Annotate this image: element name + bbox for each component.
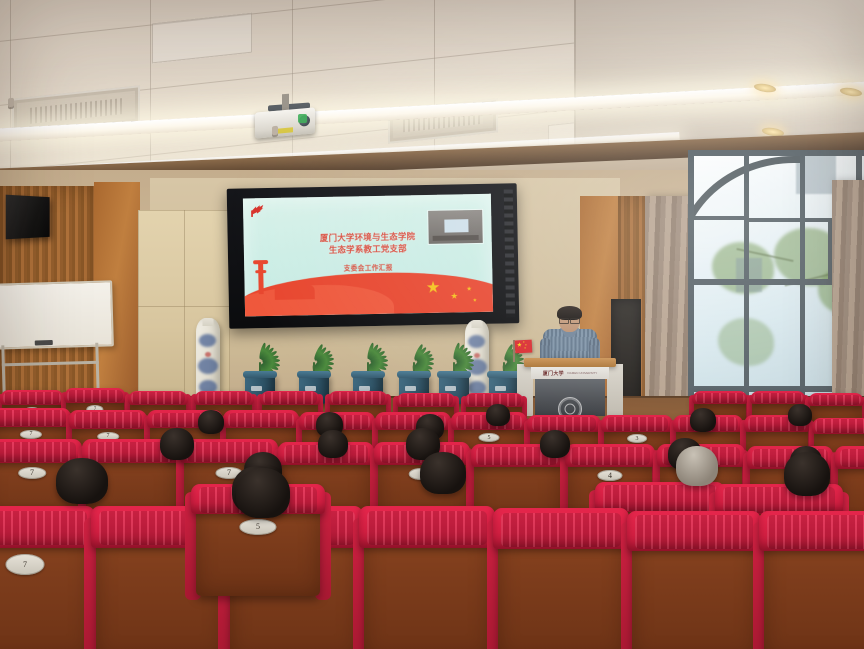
auditorium-seat[interactable]: [364, 528, 490, 649]
vase-motif: [205, 352, 211, 357]
ceiling-projector: [255, 107, 315, 138]
lectern: 厦门大学 XIAMEN UNIVERSITY: [527, 358, 613, 416]
attendee-head: [690, 408, 716, 432]
person-head: [318, 430, 348, 458]
seat-headrest: [328, 391, 388, 405]
window-mullion: [800, 150, 805, 420]
lectern-brand-en: XIAMEN UNIVERSITY: [567, 371, 597, 375]
seat-number-plate: 3: [627, 434, 647, 443]
lectern-front-panel: [535, 379, 605, 416]
auditorium-seat[interactable]: [632, 532, 756, 649]
seat-headrest: [808, 393, 864, 406]
seat-headrest: [359, 506, 495, 548]
person-head: [198, 410, 224, 434]
presenter: [543, 308, 597, 364]
flag-star: [525, 344, 527, 346]
person-head: [56, 458, 108, 504]
glasses-icon: [559, 318, 580, 322]
seat-headrest: [493, 508, 629, 549]
vase-motif: [199, 334, 216, 347]
window-mullion: [744, 150, 749, 420]
seat-headrest: [835, 446, 864, 468]
flag-star: [524, 347, 526, 349]
slide-building-graphic: [275, 285, 315, 300]
seat-headrest: [0, 408, 71, 427]
person-head: [420, 452, 466, 494]
window-mullion: [688, 150, 694, 420]
window-mullion: [744, 218, 749, 282]
pot-label: [445, 386, 456, 391]
seat-headrest: [627, 511, 761, 551]
attendee-head: [318, 430, 348, 458]
seat-number-plate: 7: [18, 467, 46, 479]
window-curtain[interactable]: [645, 196, 693, 414]
seat-headrest: [223, 410, 299, 428]
auditorium-seat[interactable]: 7: [0, 528, 90, 649]
person-head: [160, 428, 194, 460]
flag-star: [517, 342, 522, 347]
seat-headrest: [812, 418, 864, 434]
pot-label: [251, 386, 262, 391]
seat-headrest: [0, 390, 64, 405]
seat-headrest: [0, 506, 95, 548]
seat-headrest: [260, 391, 320, 405]
presentation-slide: 厦门大学环境与生态学院 生态学系教工党支部 支委会工作汇报: [243, 194, 493, 317]
seat-number-plate: 7: [6, 554, 45, 575]
attendee-head: [160, 428, 194, 460]
vent-slits: [30, 98, 122, 124]
lectern-top: [524, 358, 616, 367]
attendee-head: [788, 404, 812, 426]
person-head: [236, 468, 290, 518]
auditorium-seat[interactable]: [764, 532, 864, 649]
attendee-head: [420, 452, 466, 494]
person-head: [690, 408, 716, 432]
window-curtain[interactable]: [832, 180, 864, 420]
seat-headrest: [128, 391, 188, 405]
flag-star: [523, 341, 525, 343]
seat-headrest: [64, 388, 127, 403]
attendee-head: [236, 468, 290, 518]
seat-headrest: [396, 393, 456, 407]
seat-headrest: [750, 391, 806, 404]
attendee-head: [540, 430, 570, 458]
projector-label: [277, 127, 293, 133]
projection-screen: 厦门大学环境与生态学院 生态学系教工党支部 支委会工作汇报: [227, 183, 520, 329]
person-head: [784, 452, 830, 496]
lectern-side-panel: [607, 364, 623, 416]
attendee-head: [198, 410, 224, 434]
panel-seam: [138, 306, 230, 307]
person-head: [486, 404, 510, 426]
seat-number-plate: 5: [479, 433, 500, 442]
projector-indicator: [298, 114, 307, 123]
person-head: [540, 430, 570, 458]
vase-motif: [198, 358, 218, 374]
seat-headrest: [601, 415, 672, 432]
attendee-head: [784, 452, 830, 496]
attendee-head: [676, 446, 718, 486]
whiteboard: [0, 280, 114, 349]
attendee-head: [486, 404, 510, 426]
wall-speaker: [6, 195, 50, 240]
window-mullion: [688, 150, 864, 156]
lectern-brand-cn: 厦门大学: [543, 370, 564, 377]
auditorium-seat[interactable]: [498, 530, 624, 649]
seat-headrest: [69, 410, 147, 429]
pot-label: [495, 386, 506, 391]
window-mullion: [694, 216, 744, 220]
ceiling-sprinkler: [8, 98, 14, 108]
person-head: [788, 404, 812, 426]
person-head: [676, 446, 718, 486]
slide-title: 厦门大学环境与生态学院 生态学系教工党支部: [244, 229, 492, 258]
seat-headrest: [692, 391, 748, 404]
auditorium-photo: 厦门大学环境与生态学院 生态学系教工党支部 支委会工作汇报: [0, 0, 864, 649]
cpc-party-emblem-icon: [250, 204, 265, 217]
attendee-head: [56, 458, 108, 504]
seat-headrest: [194, 391, 254, 405]
seat-headrest: [565, 444, 656, 466]
pot-label: [405, 386, 416, 391]
chinese-national-flag: [515, 340, 533, 354]
slide-monument-graphic: [258, 260, 264, 294]
ceiling-sprinkler: [272, 126, 278, 136]
lectern-brand-text: 厦门大学 XIAMEN UNIVERSITY: [531, 368, 609, 378]
seat-headrest: [759, 511, 864, 551]
